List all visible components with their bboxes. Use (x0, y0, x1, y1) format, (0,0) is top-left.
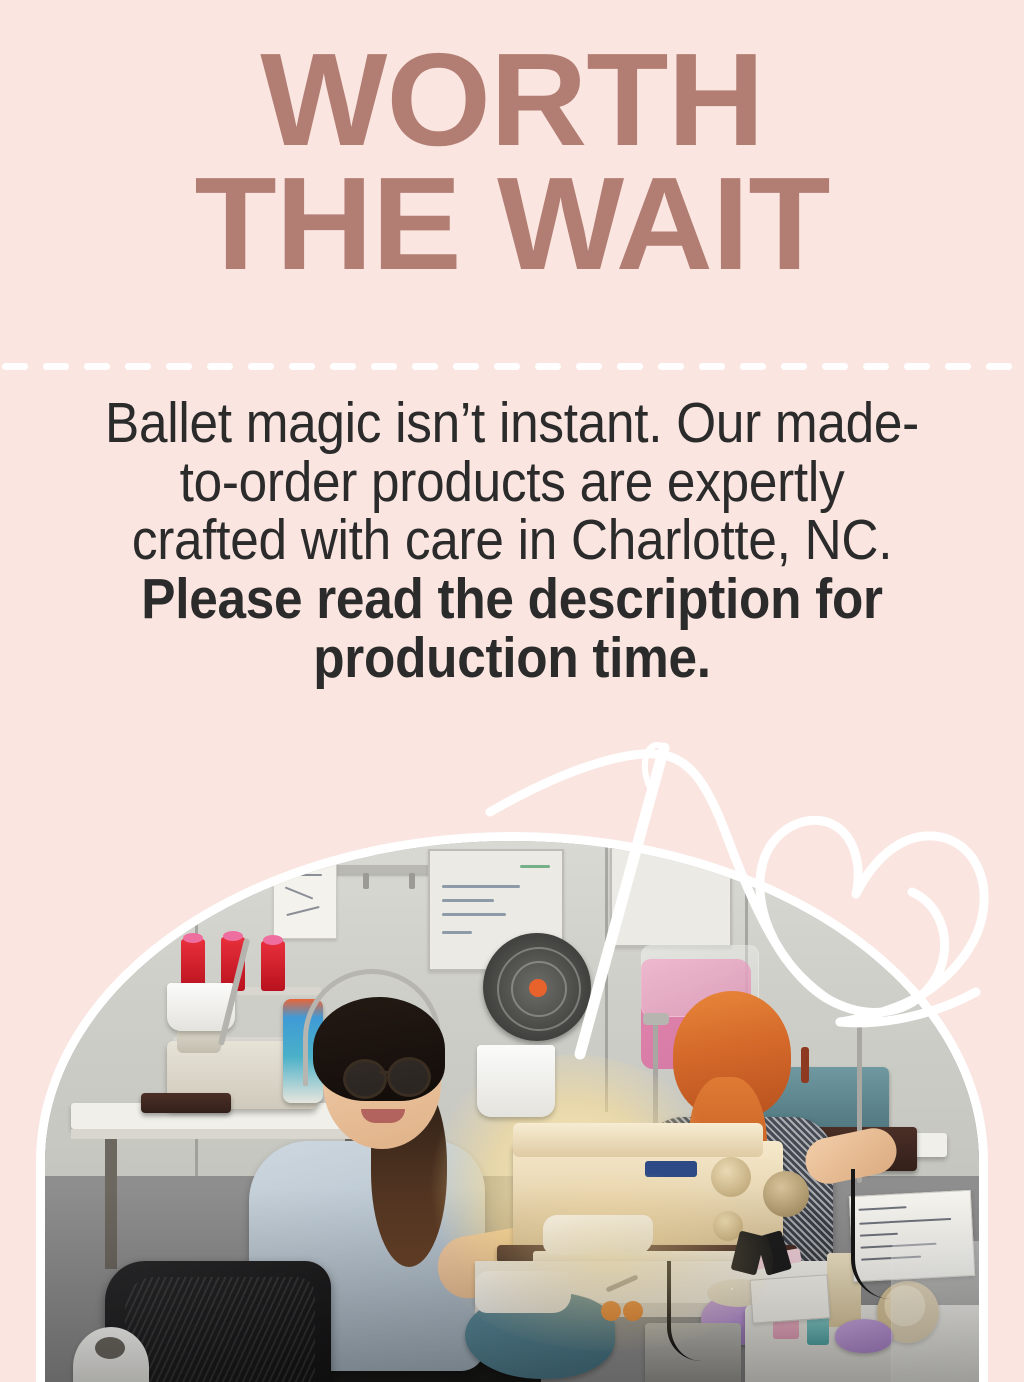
whiteboard-writing (520, 865, 550, 868)
body-copy: Ballet magic isn’t instant. Our made- to… (36, 394, 988, 688)
rack-peg (409, 873, 415, 889)
divider-dash (781, 363, 807, 370)
body-line-1: Ballet magic isn’t instant. Our made- (84, 394, 941, 453)
body-line-2: to-order products are expertly (84, 453, 941, 512)
whiteboard (610, 847, 732, 947)
photo-image-area (45, 841, 979, 1382)
machine-arm (513, 1123, 763, 1157)
divider-dash (330, 363, 356, 370)
divider-dash (904, 363, 930, 370)
eyeglasses-right-lens (387, 1057, 431, 1097)
thread-cone-cap (223, 931, 243, 941)
divider-dash (576, 363, 602, 370)
divider-dash (289, 363, 315, 370)
whiteboard-writing (442, 899, 494, 902)
pattern-paper (273, 851, 337, 939)
poster-canvas: WORTH THE WAIT Ballet magic isn’t ins (0, 0, 1024, 1382)
divider-dash (248, 363, 274, 370)
divider-dash (945, 363, 971, 370)
divider-dash (699, 363, 725, 370)
thread-stand-top (643, 1013, 669, 1025)
divider-dash (207, 363, 233, 370)
fan-hub (529, 979, 547, 997)
thread-cone-cap (183, 933, 203, 943)
page-title: WORTH THE WAIT (0, 38, 1024, 286)
divider-dash (658, 363, 684, 370)
divider-dash (535, 363, 561, 370)
spool-pin (801, 1047, 809, 1083)
divider-dash (494, 363, 520, 370)
rack-peg (363, 873, 369, 889)
scene-shadow (45, 1187, 979, 1382)
divider-dash (125, 363, 151, 370)
divider-dash (166, 363, 192, 370)
divider-dash (740, 363, 766, 370)
divider-dash (2, 363, 28, 370)
eyeglasses-left-lens (343, 1059, 387, 1099)
whiteboard-writing (442, 885, 520, 888)
headline-line-1: WORTH (0, 38, 1024, 162)
divider-dash (822, 363, 848, 370)
divider-dash (412, 363, 438, 370)
divider-dash (453, 363, 479, 370)
paper-scribble (285, 886, 314, 899)
needle-eye-icon (645, 745, 662, 792)
dashed-divider (0, 362, 1024, 370)
headline-line-2: THE WAIT (0, 162, 1024, 286)
body-line-3: crafted with care in Charlotte, NC. (84, 511, 941, 570)
body-line-5-emphasis: production time. (84, 629, 941, 688)
body-line-4-emphasis: Please read the description for (84, 570, 941, 629)
workshop-photo (36, 832, 988, 1382)
whiteboard-writing (442, 913, 506, 916)
eyeglasses-bridge (379, 1071, 391, 1074)
thread-cone (261, 941, 285, 991)
divider-dash (43, 363, 69, 370)
divider-dash (617, 363, 643, 370)
divider-dash (863, 363, 889, 370)
machine-base (141, 1093, 231, 1113)
paper-scribble (286, 906, 319, 916)
photo-scene (45, 841, 979, 1382)
divider-dash (84, 363, 110, 370)
thread-cone-cap (263, 935, 283, 945)
divider-dash (986, 363, 1012, 370)
divider-dash (371, 363, 397, 370)
paper-scribble (282, 874, 322, 876)
desk-lamp-shade (477, 1045, 555, 1117)
whiteboard-writing (442, 931, 472, 934)
